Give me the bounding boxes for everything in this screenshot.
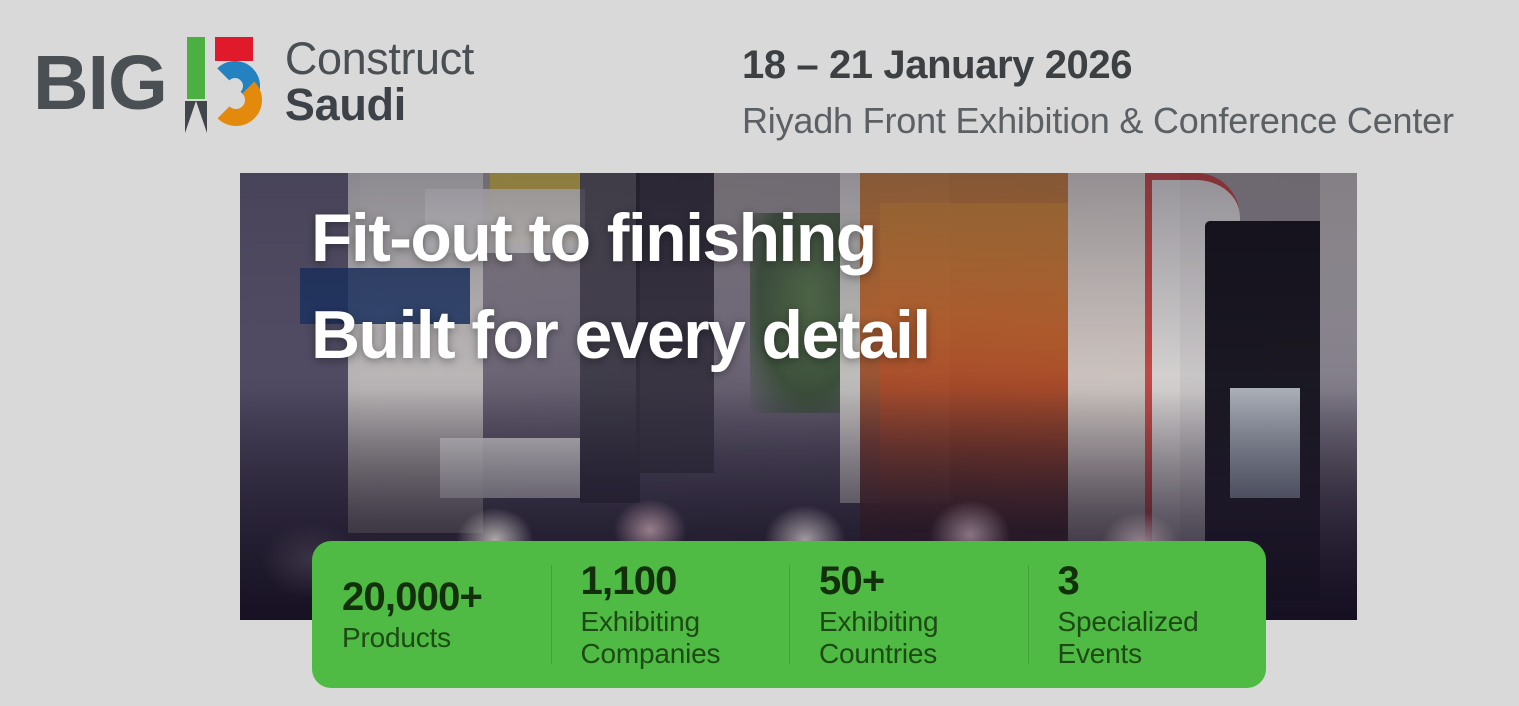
hero-headline: Fit-out to finishing Built for every det… bbox=[311, 190, 930, 383]
brand-logo-lockup[interactable]: BIG Construct Saudi bbox=[33, 28, 474, 138]
logo-green-bar-icon bbox=[187, 37, 205, 99]
big-five-logo-icon bbox=[181, 28, 265, 138]
brand-name-block: Construct Saudi bbox=[285, 36, 474, 131]
stat-value: 20,000+ bbox=[342, 576, 539, 618]
brand-construct-label: Construct bbox=[285, 36, 474, 82]
stat-label: Products bbox=[342, 622, 539, 654]
event-dates: 18 – 21 January 2026 bbox=[742, 40, 1454, 90]
stat-value: 1,100 bbox=[581, 560, 778, 602]
event-venue: Riyadh Front Exhibition & Conference Cen… bbox=[742, 98, 1454, 145]
stat-label-line-1: Exhibiting bbox=[819, 606, 1016, 638]
stat-label-line-2: Countries bbox=[819, 638, 1016, 670]
logo-red-bar-icon bbox=[215, 37, 253, 61]
logo-dark-wedge-icon bbox=[185, 101, 207, 133]
logo-orange-arc-icon bbox=[210, 74, 262, 126]
brand-saudi-label: Saudi bbox=[285, 82, 474, 128]
stat-label-line-1: Specialized bbox=[1058, 606, 1255, 638]
event-info-block: 18 – 21 January 2026 Riyadh Front Exhibi… bbox=[742, 40, 1454, 145]
hero-headline-line-2: Built for every detail bbox=[311, 287, 930, 384]
stat-label-line-1: Exhibiting bbox=[581, 606, 778, 638]
stat-value: 3 bbox=[1058, 560, 1255, 602]
stat-item-exhibiting-countries: 50+ Exhibiting Countries bbox=[789, 541, 1028, 688]
stat-label-line-1: Products bbox=[342, 622, 539, 654]
hero-headline-line-1: Fit-out to finishing bbox=[311, 190, 930, 287]
stat-label: Exhibiting Companies bbox=[581, 606, 778, 669]
brand-big-wordmark: BIG bbox=[33, 45, 167, 122]
stat-item-specialized-events: 3 Specialized Events bbox=[1028, 541, 1267, 688]
event-stats-bar: 20,000+ Products 1,100 Exhibiting Compan… bbox=[312, 541, 1266, 688]
stat-label-line-2: Events bbox=[1058, 638, 1255, 670]
stat-value: 50+ bbox=[819, 560, 1016, 602]
page-header: BIG Construct Saudi 18 – 21 January 2026… bbox=[0, 0, 1519, 173]
stat-label: Exhibiting Countries bbox=[819, 606, 1016, 669]
stat-item-exhibiting-companies: 1,100 Exhibiting Companies bbox=[551, 541, 790, 688]
stat-item-products: 20,000+ Products bbox=[312, 541, 551, 688]
stat-label-line-2: Companies bbox=[581, 638, 778, 670]
stat-label: Specialized Events bbox=[1058, 606, 1255, 669]
